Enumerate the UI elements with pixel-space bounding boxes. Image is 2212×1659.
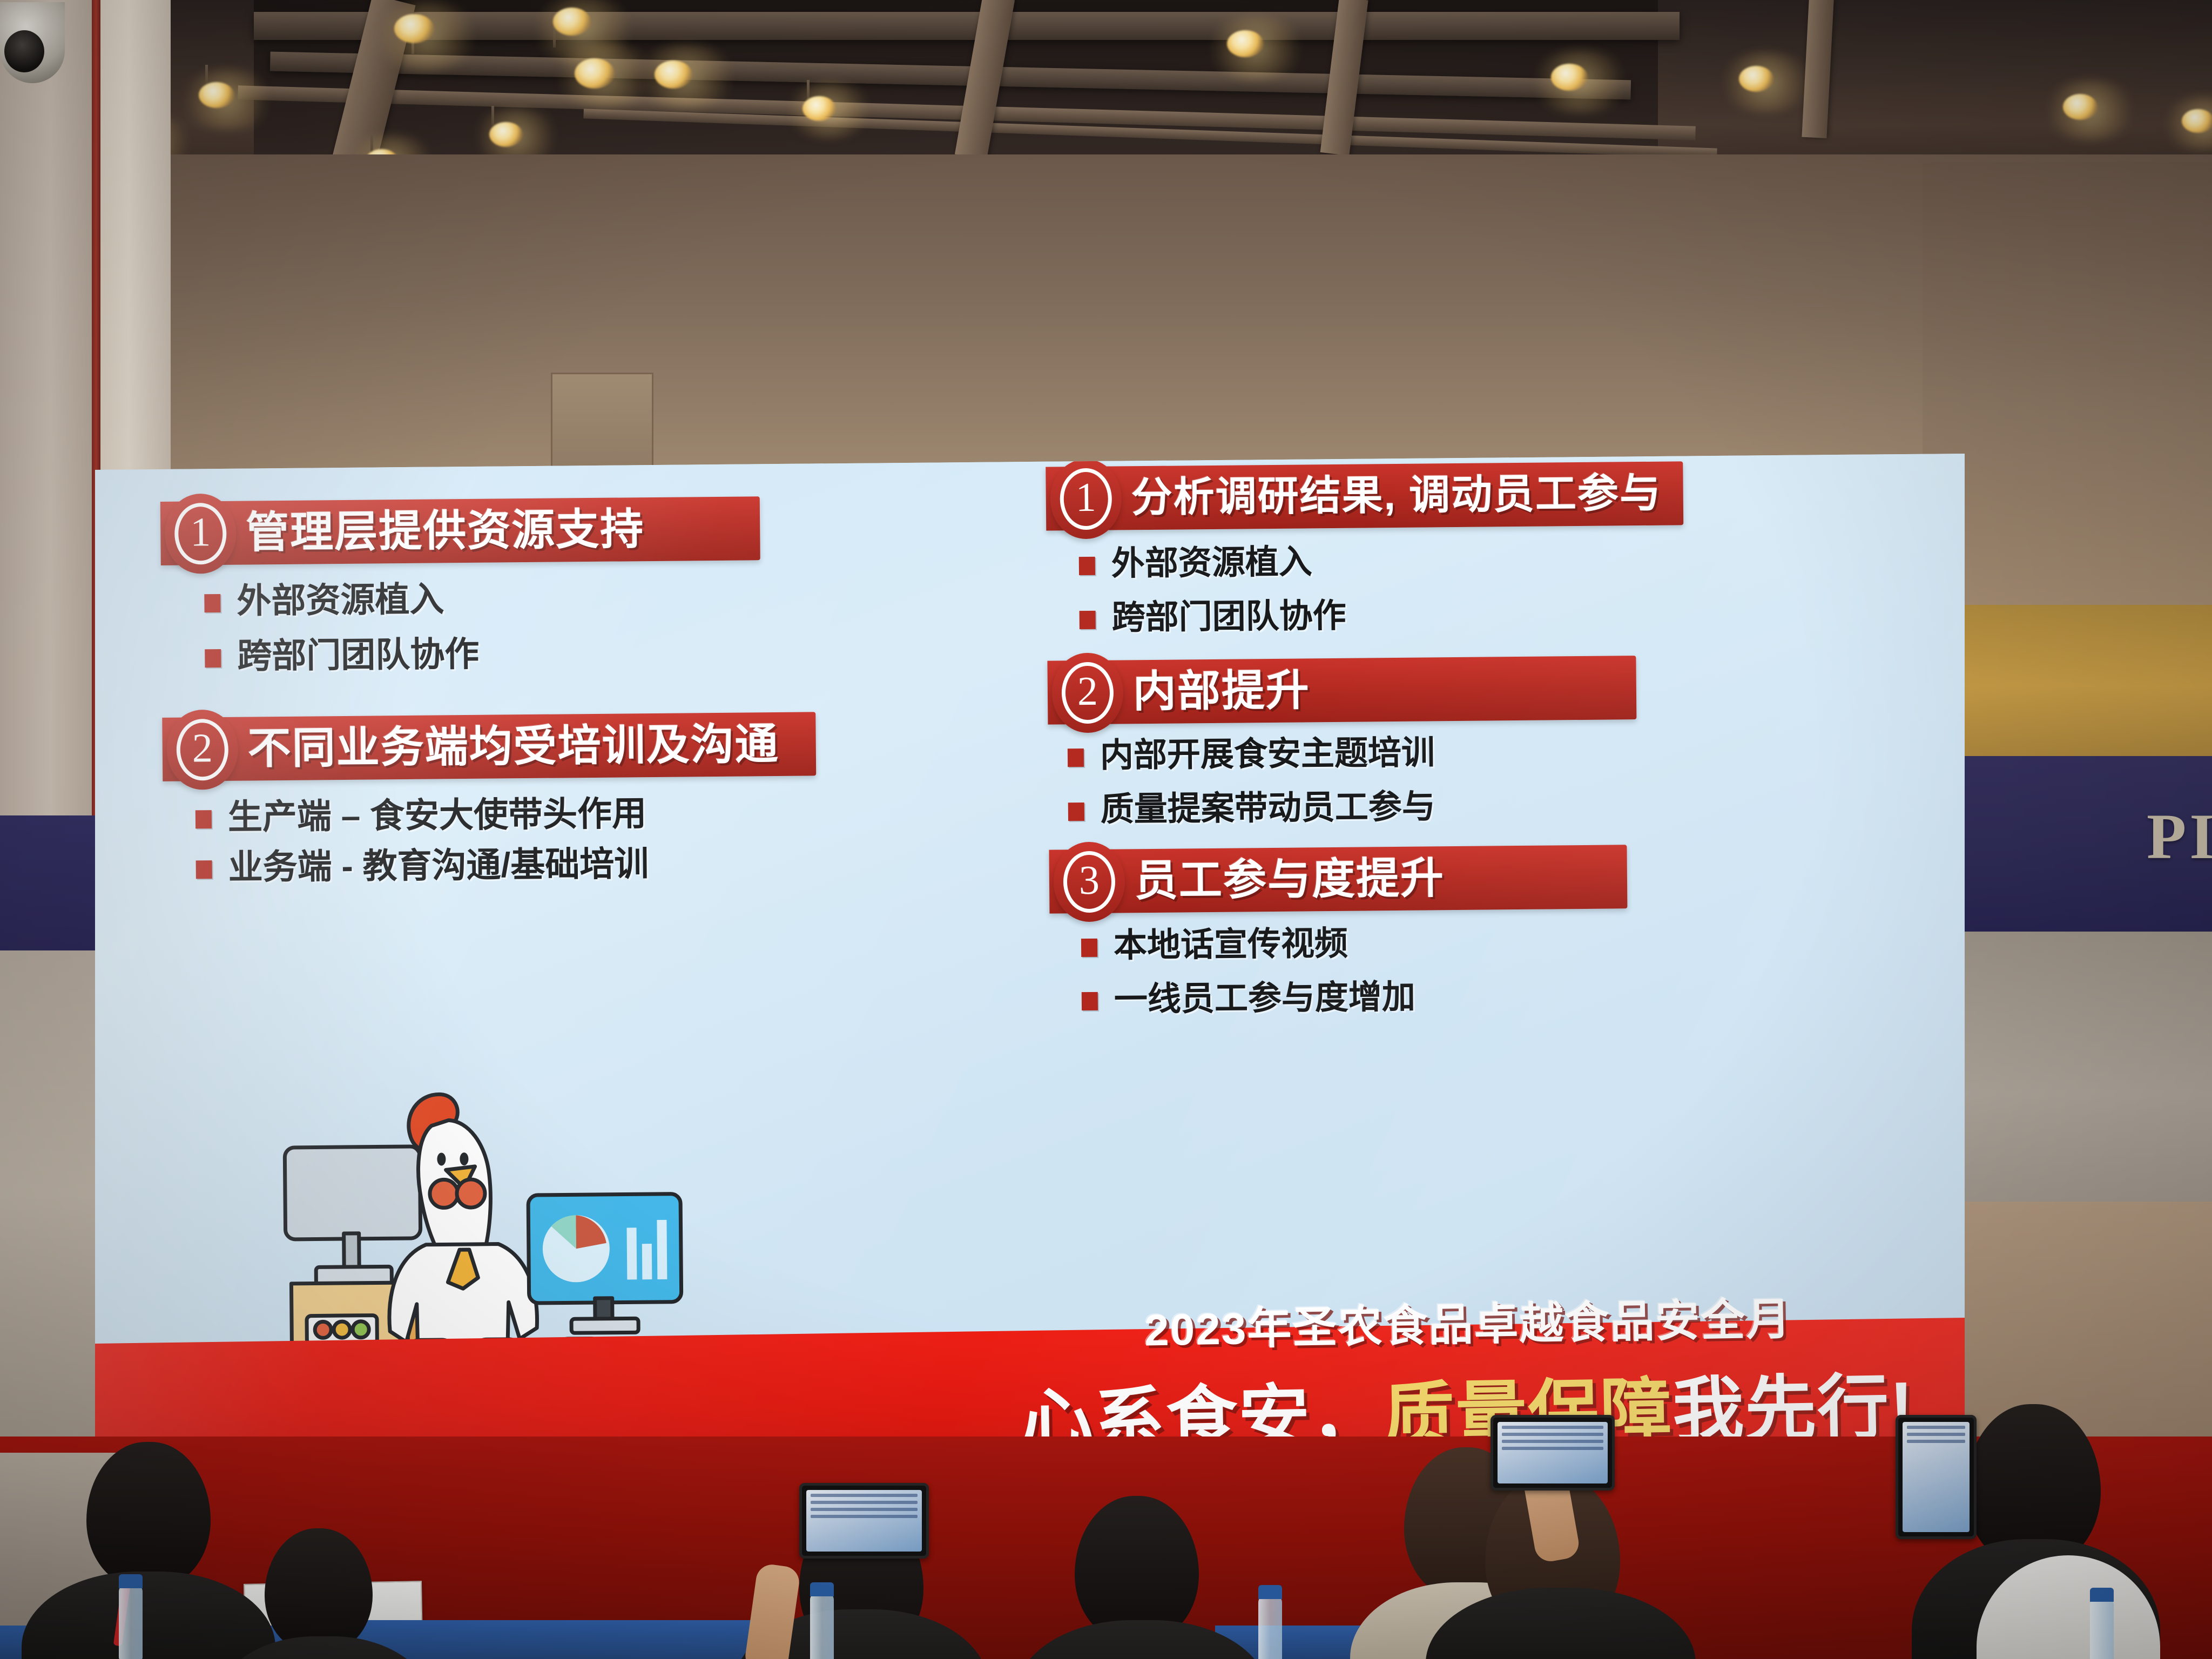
- bullet-square-icon: [1080, 610, 1096, 629]
- phone-screen: [1903, 1422, 1970, 1532]
- bullet-text: 生产端 – 食安大使带头作用: [228, 795, 647, 836]
- bottle-body: [1258, 1596, 1282, 1659]
- list-item: 本地话宣传视频: [1081, 921, 1914, 964]
- screenshot-root: PI 1 管理层提供资源支持: [0, 0, 2212, 1659]
- ceiling-lamp-11: [1551, 64, 1588, 91]
- right-section-3-number: 3: [1063, 851, 1115, 913]
- ceiling-lamp-2: [553, 8, 591, 36]
- slide-left-column: 1 管理层提供资源支持 外部资源植入 跨部门团队协作: [160, 494, 1006, 901]
- bullet-text: 一线员工参与度增加: [1114, 979, 1416, 1017]
- right-section-1-number-badge: 1: [1050, 458, 1122, 539]
- ceiling-lamp-9: [802, 96, 836, 121]
- right-section-3-bullets: 本地话宣传视频 一线员工参与度增加: [1081, 921, 1914, 1018]
- bullet-text: 外部资源植入: [237, 581, 444, 619]
- right-section-2-bullets: 内部开展食安主题培训 质量提案带动员工参与: [1068, 731, 1913, 828]
- bullet-text: 跨部门团队协作: [237, 636, 480, 675]
- ceiling-lamp-8: [489, 122, 523, 147]
- ceiling-lamp-12: [1739, 66, 1773, 92]
- person-head: [86, 1442, 211, 1588]
- right-section-1-bar: 1 分析调研结果, 调动员工参与: [1046, 461, 1683, 530]
- bullet-text: 质量提案带动员工参与: [1101, 790, 1436, 828]
- bullet-text: 业务端 - 教育沟通/基础培训: [228, 846, 649, 887]
- right-wall-lower: [1923, 932, 2212, 1202]
- smartphone[interactable]: [799, 1483, 929, 1559]
- left-section-1-title: 管理层提供资源支持: [246, 508, 645, 554]
- bullet-square-icon: [1081, 939, 1097, 957]
- list-item: 外部资源植入: [204, 576, 1004, 620]
- bullet-text: 内部开展食安主题培训: [1100, 736, 1435, 774]
- list-item: 跨部门团队协作: [205, 631, 1004, 675]
- venue-sign-text: PI: [2147, 799, 2212, 874]
- right-section-1-number: 1: [1060, 468, 1112, 530]
- left-section-2-bullets: 生产端 – 食安大使带头作用 业务端 - 教育沟通/基础培训: [195, 792, 1006, 887]
- ceiling-lamp-1: [394, 14, 434, 43]
- list-item: 内部开展食安主题培训: [1068, 731, 1913, 774]
- bullet-square-icon: [1068, 802, 1084, 821]
- bottle-cap: [2090, 1588, 2114, 1602]
- left-section-1-bar: 1 管理层提供资源支持: [160, 496, 760, 565]
- ceiling-lamp-14: [2182, 109, 2212, 133]
- slide-surface: 1 管理层提供资源支持 外部资源植入 跨部门团队协作: [95, 454, 1965, 1480]
- audience-person-6: [1404, 1404, 1707, 1659]
- left-section-2-title: 不同业务端均受培训及沟通: [247, 723, 779, 771]
- right-section-1-title: 分析调研结果, 调动员工参与: [1131, 473, 1662, 519]
- right-section-2-bar: 2 内部提升: [1047, 656, 1636, 725]
- left-section-1-bullets: 外部资源植入 跨部门团队协作: [204, 576, 1004, 675]
- ceiling-lamp-4: [655, 60, 692, 89]
- security-camera: [0, 0, 70, 92]
- right-section-3-number-badge: 3: [1053, 841, 1125, 922]
- bullet-square-icon: [196, 861, 212, 879]
- right-section-2-number-badge: 2: [1051, 653, 1123, 733]
- bullet-text: 跨部门团队协作: [1111, 598, 1346, 636]
- left-section-1-number-badge: 1: [165, 494, 237, 574]
- list-item: 质量提案带动员工参与: [1068, 785, 1913, 828]
- left-section-1: 1 管理层提供资源支持 外部资源植入 跨部门团队协作: [160, 494, 1004, 675]
- left-wall-lower: [0, 950, 95, 1437]
- ceiling-lamp-13: [2063, 94, 2098, 120]
- right-wall-gold-band: [1923, 605, 2212, 767]
- right-section-3: 3 员工参与度提升 本地话宣传视频 一线员工参与度增加: [1049, 842, 1914, 1018]
- ceiling-lamp-5: [199, 82, 234, 108]
- right-section-2-title: 内部提升: [1133, 669, 1311, 714]
- bullet-square-icon: [205, 649, 221, 667]
- bullet-text: 外部资源植入: [1111, 544, 1313, 582]
- smartphone[interactable]: [1896, 1415, 1977, 1539]
- right-section-1: 1 分析调研结果, 调动员工参与 外部资源植入 跨部门团队协作: [1046, 460, 1911, 636]
- bullet-square-icon: [204, 594, 220, 612]
- bullet-square-icon: [195, 810, 212, 828]
- audience-person-2: [216, 1528, 432, 1659]
- audience-person-4: [1015, 1496, 1269, 1659]
- person-shoulders: [216, 1636, 432, 1659]
- right-section-1-bullets: 外部资源植入 跨部门团队协作: [1079, 539, 1911, 636]
- left-section-2-number: 2: [176, 719, 228, 781]
- right-section-3-bar: 3 员工参与度提升: [1049, 845, 1627, 913]
- left-section-2-bar: 2 不同业务端均受培训及沟通: [162, 712, 816, 781]
- list-item: 生产端 – 食安大使带头作用: [195, 792, 1006, 836]
- left-section-1-number: 1: [174, 503, 227, 565]
- ceiling-lamp-3: [575, 58, 615, 89]
- smartphone[interactable]: [1491, 1415, 1615, 1491]
- bottle-body: [119, 1585, 143, 1659]
- person-shoulders: [1426, 1588, 1696, 1659]
- ceiling-lamp-10: [1227, 30, 1264, 57]
- left-wall-sign-board: [0, 815, 95, 950]
- list-item: 外部资源植入: [1079, 539, 1911, 582]
- slide-right-column: 1 分析调研结果, 调动员工参与 外部资源植入 跨部门团队协作: [1046, 460, 1914, 1036]
- left-section-2-number-badge: 2: [166, 709, 238, 790]
- left-section-2: 2 不同业务端均受培训及沟通 生产端 – 食安大使带头作用 业务端: [162, 710, 1006, 887]
- bullet-square-icon: [1082, 992, 1098, 1010]
- list-item: 跨部门团队协作: [1079, 593, 1911, 636]
- phone-screen: [1498, 1422, 1608, 1483]
- bottle-cap: [1258, 1585, 1282, 1599]
- bottle-body: [810, 1593, 834, 1659]
- person-head: [265, 1528, 373, 1653]
- audience-person-3: [718, 1474, 999, 1659]
- led-screen: 1 管理层提供资源支持 外部资源植入 跨部门团队协作: [95, 454, 1965, 1480]
- right-section-3-title: 员工参与度提升: [1135, 857, 1445, 902]
- bullet-text: 本地话宣传视频: [1114, 926, 1348, 964]
- bottle-cap: [810, 1582, 834, 1596]
- camera-lens-icon: [4, 30, 44, 72]
- list-item: 业务端 - 教育沟通/基础培训: [195, 843, 1006, 887]
- right-section-2: 2 内部提升 内部开展食安主题培训 质量提案带动员工参与: [1047, 653, 1913, 828]
- bottle-cap: [119, 1574, 143, 1588]
- list-item: 一线员工参与度增加: [1082, 975, 1915, 1017]
- right-section-2-number: 2: [1061, 662, 1114, 724]
- banner-line-1: 2023年圣农食品卓越食品安全月: [1008, 1280, 1927, 1361]
- bullet-square-icon: [1068, 748, 1084, 767]
- phone-screen: [806, 1490, 922, 1552]
- bottle-body: [2090, 1599, 2114, 1659]
- bullet-square-icon: [1079, 557, 1095, 575]
- person-shoulders: [1015, 1620, 1269, 1659]
